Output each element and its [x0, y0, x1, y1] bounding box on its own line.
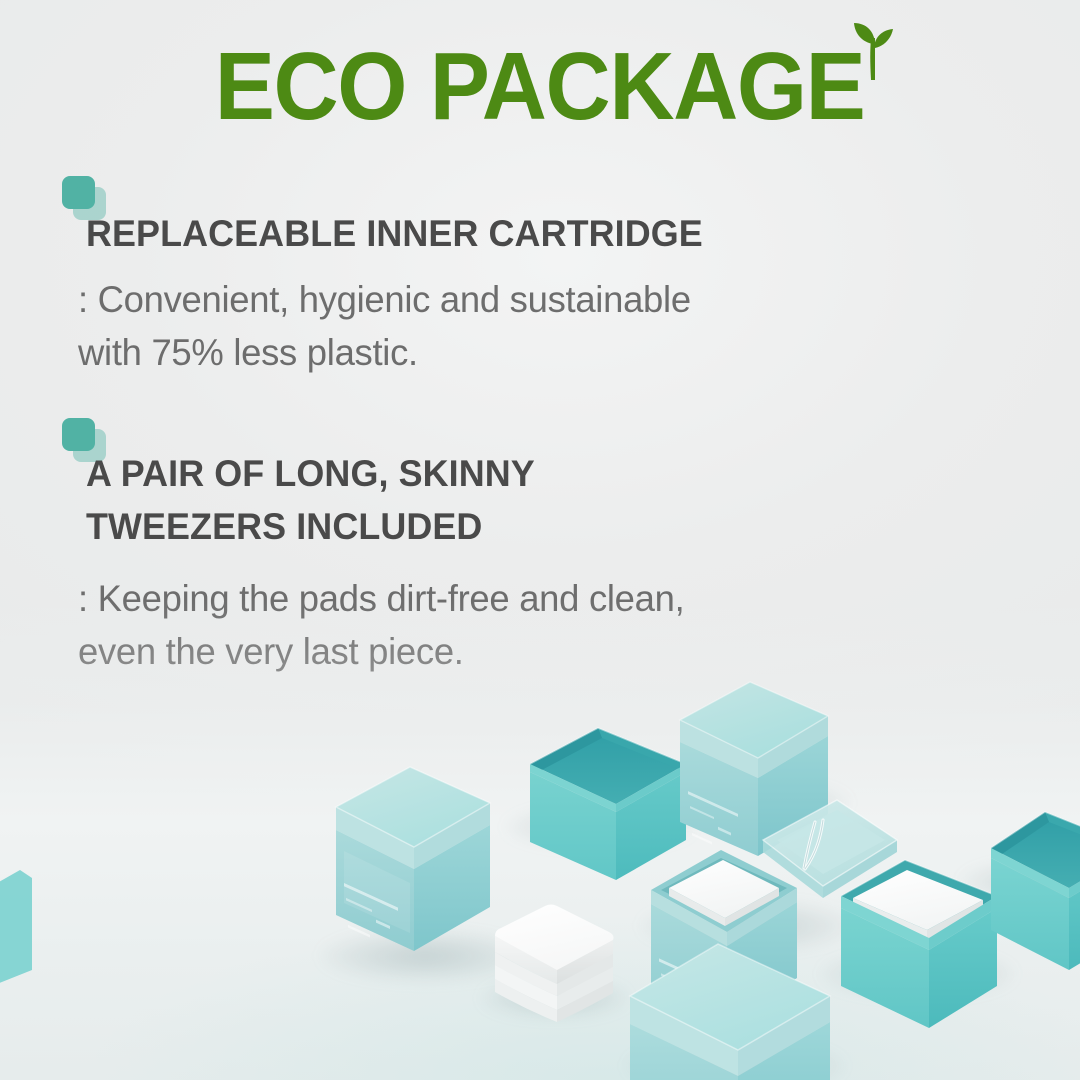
eco-package-graphic: ECO PACKAGE REPLACEABLE INNER CARTRIDGE …: [0, 0, 1080, 1080]
frosted-jar-closed-left: [322, 755, 502, 955]
feature-2-heading: A PAIR OF LONG, SKINNY TWEEZERS INCLUDED: [86, 448, 535, 553]
teal-cartridge-edge-sliver: [0, 850, 32, 1000]
teal-inner-cartridge-empty-right: [985, 800, 1080, 975]
product-photo: [0, 600, 1080, 1080]
cotton-pad-stack: [487, 892, 622, 1027]
feature-1-body: : Convenient, hygienic and sustainable w…: [78, 274, 691, 379]
teal-cartridge-with-pads: [833, 850, 1008, 1035]
feature-1-heading: REPLACEABLE INNER CARTRIDGE: [86, 208, 703, 261]
frosted-jar-closed-bottom: [620, 930, 840, 1080]
title-block: ECO PACKAGE: [0, 38, 1080, 136]
page-title: ECO PACKAGE: [215, 38, 865, 136]
